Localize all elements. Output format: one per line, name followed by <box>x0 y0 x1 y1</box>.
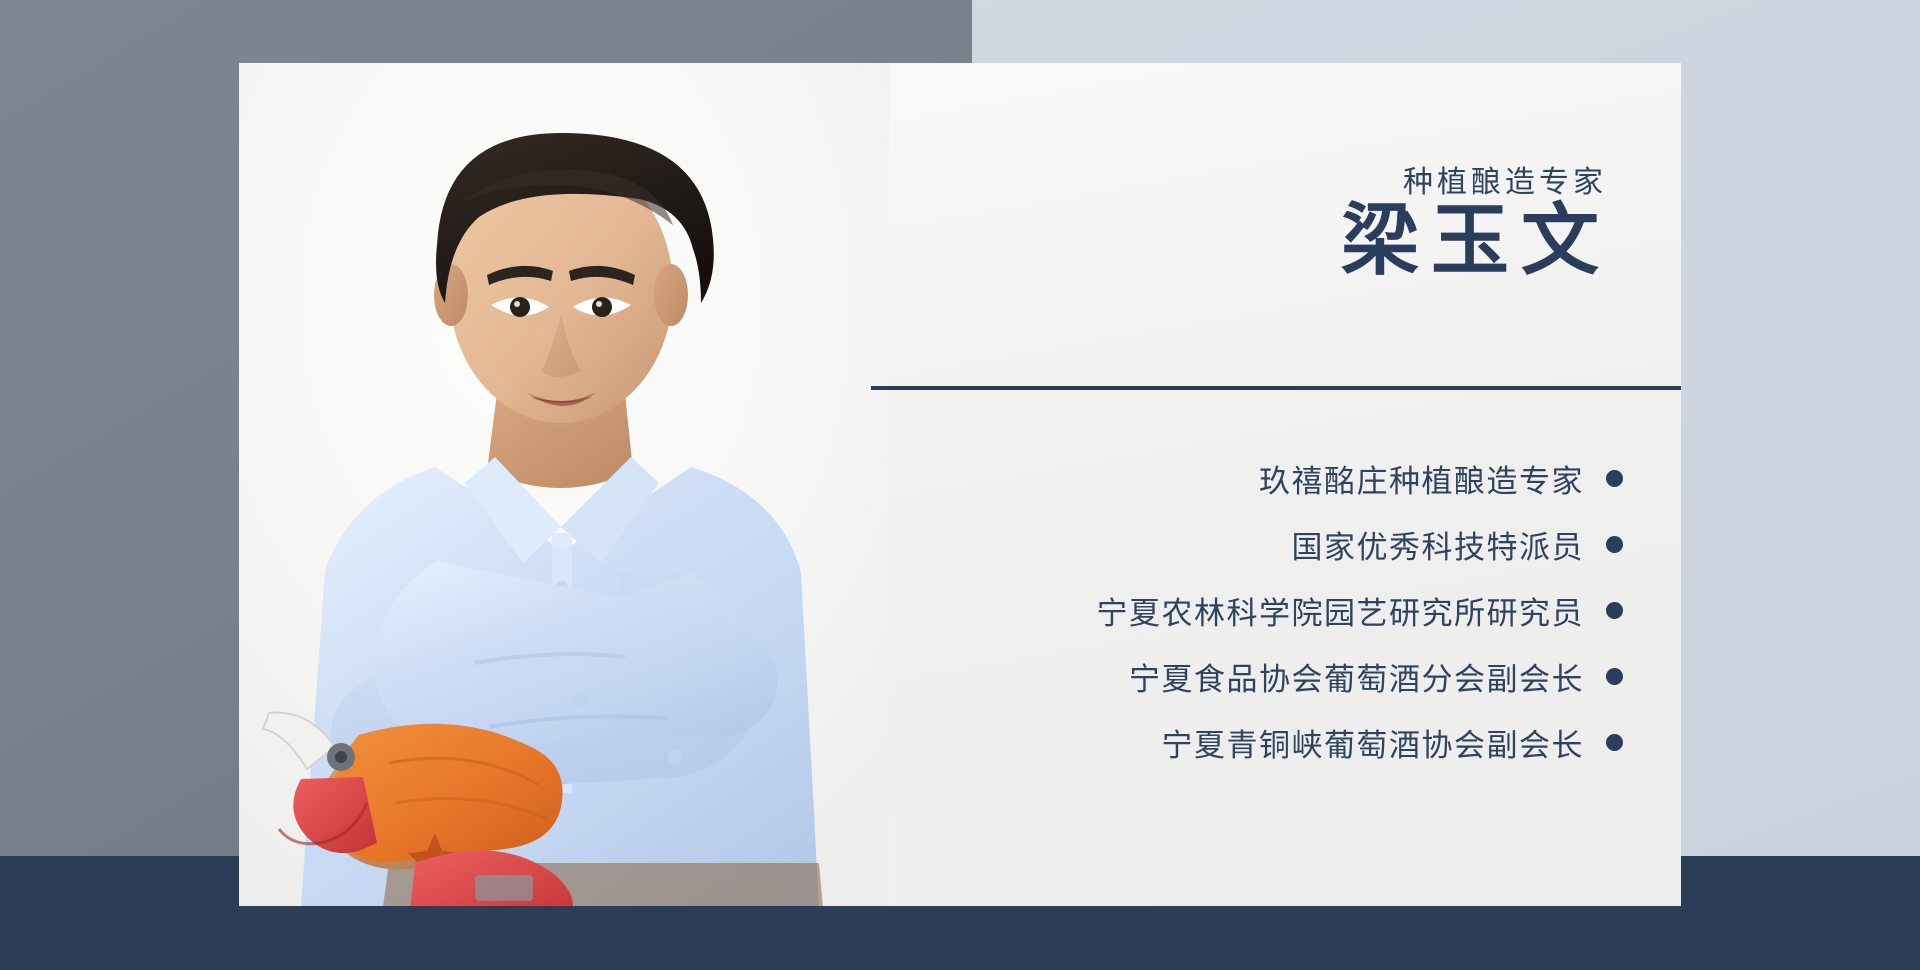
divider-rule <box>871 381 1681 395</box>
person-name: 梁玉文 <box>1341 195 1611 287</box>
list-item: 宁夏农林科学院园艺研究所研究员 <box>963 577 1623 643</box>
credential-label: 宁夏青铜峡葡萄酒协会副会长 <box>1162 720 1585 765</box>
list-item: 国家优秀科技特派员 <box>963 511 1623 577</box>
bullet-dot-icon <box>1606 536 1623 553</box>
bullet-dot-icon <box>1606 602 1623 619</box>
credential-label: 宁夏食品协会葡萄酒分会副会长 <box>1129 654 1584 699</box>
profile-card: 种植酿造专家 梁玉文 玖禧酩庄种植酿造专家 国家优秀科技特派员 宁夏农林科学院园… <box>239 63 1681 906</box>
bullet-dot-icon <box>1606 734 1623 751</box>
credential-label: 宁夏农林科学院园艺研究所研究员 <box>1097 588 1585 633</box>
text-column: 种植酿造专家 梁玉文 玖禧酩庄种植酿造专家 国家优秀科技特派员 宁夏农林科学院园… <box>939 63 1681 906</box>
divider-line <box>871 386 1681 390</box>
credential-label: 国家优秀科技特派员 <box>1292 522 1585 567</box>
bullet-dot-icon <box>1606 470 1623 487</box>
background-block-navy-bottom <box>0 905 1920 970</box>
credential-list: 玖禧酩庄种植酿造专家 国家优秀科技特派员 宁夏农林科学院园艺研究所研究员 宁夏食… <box>963 445 1623 775</box>
credential-label: 玖禧酩庄种植酿造专家 <box>1259 456 1584 501</box>
portrait-photo <box>239 63 889 906</box>
list-item: 宁夏食品协会葡萄酒分会副会长 <box>963 643 1623 709</box>
list-item: 宁夏青铜峡葡萄酒协会副会长 <box>963 709 1623 775</box>
list-item: 玖禧酩庄种植酿造专家 <box>963 445 1623 511</box>
bullet-dot-icon <box>1606 668 1623 685</box>
banner-stage: 种植酿造专家 梁玉文 玖禧酩庄种植酿造专家 国家优秀科技特派员 宁夏农林科学院园… <box>0 0 1920 970</box>
